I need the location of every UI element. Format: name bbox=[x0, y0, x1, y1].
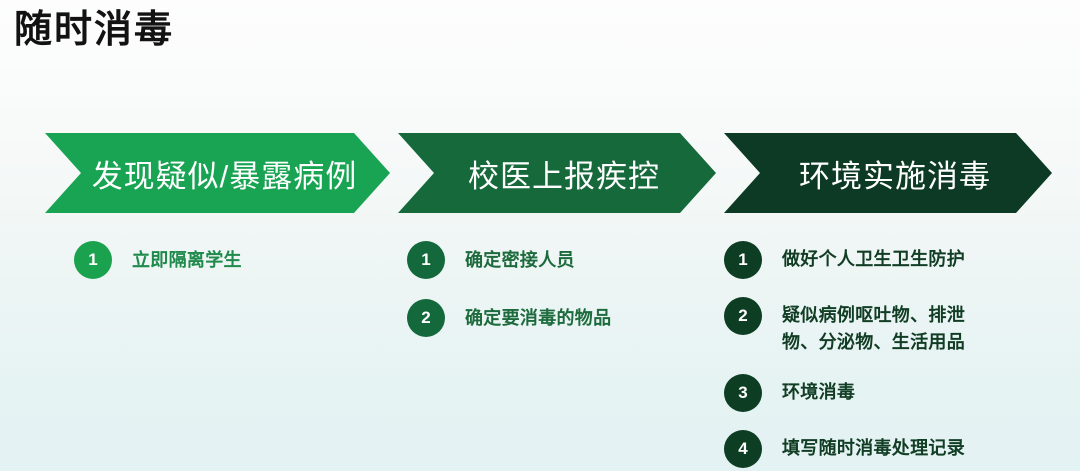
list-item-label: 填写随时消毒处理记录 bbox=[782, 429, 965, 462]
list-item: 3 环境消毒 bbox=[724, 373, 1054, 412]
step-number-badge: 1 bbox=[407, 241, 445, 279]
list-item: 1 确定密接人员 bbox=[407, 240, 707, 279]
flow-step-2-label: 校医上报疾控 bbox=[398, 151, 716, 196]
step-number-badge: 4 bbox=[724, 430, 762, 468]
list-item-label: 确定要消毒的物品 bbox=[465, 298, 611, 332]
step-number-badge: 3 bbox=[724, 374, 762, 412]
list-item: 2 确定要消毒的物品 bbox=[407, 298, 707, 337]
flow-step-3[interactable]: 环境实施消毒 bbox=[724, 133, 1052, 213]
step-number-badge: 2 bbox=[407, 299, 445, 337]
step-number-badge: 2 bbox=[724, 297, 762, 335]
step-number-badge: 1 bbox=[724, 241, 762, 279]
list-item: 2 疑似病例呕吐物、排泄 物、分泌物、生活用品 bbox=[724, 296, 1054, 356]
list-item-label: 环境消毒 bbox=[782, 373, 855, 406]
flow-step-2[interactable]: 校医上报疾控 bbox=[398, 133, 716, 213]
flow-step-1[interactable]: 发现疑似/暴露病例 bbox=[45, 133, 390, 213]
detail-columns: 1 立即隔离学生 1 确定密接人员 2 确定要消毒的物品 1 做好个人卫生卫生防… bbox=[0, 240, 1080, 471]
process-flow-chevrons: 发现疑似/暴露病例 校医上报疾控 环境实施消毒 bbox=[0, 133, 1080, 213]
list-item-label: 做好个人卫生卫生防护 bbox=[782, 240, 965, 273]
list-item: 1 立即隔离学生 bbox=[74, 240, 374, 279]
detail-column-3: 1 做好个人卫生卫生防护 2 疑似病例呕吐物、排泄 物、分泌物、生活用品 3 环… bbox=[724, 240, 1054, 471]
step-number-badge: 1 bbox=[74, 241, 112, 279]
list-item-label: 疑似病例呕吐物、排泄 物、分泌物、生活用品 bbox=[782, 296, 965, 356]
page-title: 随时消毒 bbox=[14, 8, 174, 54]
list-item-label: 确定密接人员 bbox=[465, 240, 575, 274]
slide-canvas: 随时消毒 发现疑似/暴露病例 校医上报疾控 环境实施消毒 1 立即隔离学生 1 … bbox=[0, 0, 1080, 471]
flow-step-3-label: 环境实施消毒 bbox=[724, 151, 1052, 196]
list-item: 4 填写随时消毒处理记录 bbox=[724, 429, 1054, 468]
list-item: 1 做好个人卫生卫生防护 bbox=[724, 240, 1054, 279]
detail-column-1: 1 立即隔离学生 bbox=[74, 240, 374, 298]
detail-column-2: 1 确定密接人员 2 确定要消毒的物品 bbox=[407, 240, 707, 356]
list-item-label: 立即隔离学生 bbox=[132, 240, 242, 274]
flow-step-1-label: 发现疑似/暴露病例 bbox=[45, 151, 390, 196]
